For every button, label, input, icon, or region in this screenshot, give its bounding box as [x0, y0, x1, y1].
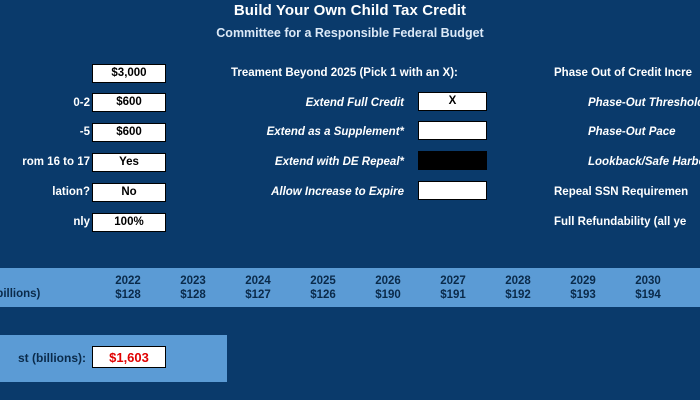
left-row-label-3: rom 16 to 17	[0, 155, 90, 169]
page-subtitle: Committee for a Responsible Federal Budg…	[0, 26, 700, 40]
table-col-header: 2025	[297, 275, 349, 287]
left-row-label-2: -5	[0, 125, 90, 139]
table-cell: $193	[557, 289, 609, 301]
left-row-label-5: nly	[0, 215, 90, 229]
table-col-header: 2024	[232, 275, 284, 287]
table-row-label: ear (billions)	[0, 288, 40, 300]
input-extend-with-de-repeal[interactable]	[418, 151, 487, 170]
table-cell: $126	[297, 289, 349, 301]
spreadsheet-canvas: Build Your Own Child Tax Credit Committe…	[0, 0, 700, 400]
input-extend-full-credit[interactable]: X	[418, 92, 487, 111]
right-panel-heading: Phase Out of Credit Incre	[554, 67, 692, 79]
table-col-header: 2027	[427, 275, 479, 287]
label-extend-full-credit: Extend Full Credit	[218, 96, 404, 110]
label-allow-increase-to-expire: Allow Increase to Expire	[218, 185, 404, 199]
input-extend-as-supplement[interactable]	[418, 121, 487, 140]
label-repeal-ssn-requirement: Repeal SSN Requiremen	[554, 185, 688, 199]
table-col-header: 2030	[622, 275, 674, 287]
label-full-refundability: Full Refundability (all ye	[554, 215, 686, 229]
left-row-label-4: lation?	[0, 185, 90, 199]
label-phase-out-threshold: Phase-Out Threshold	[588, 96, 700, 110]
total-value: $1,603	[92, 346, 166, 368]
input-extend-age-16-to-17[interactable]: Yes	[92, 153, 166, 172]
table-cell: $194	[622, 289, 674, 301]
table-col-header: 2023	[167, 275, 219, 287]
input-credit-amount[interactable]: $3,000	[92, 64, 166, 83]
label-phase-out-pace: Phase-Out Pace	[588, 125, 676, 139]
label-extend-as-supplement: Extend as a Supplement*	[218, 125, 404, 139]
table-cell: $127	[232, 289, 284, 301]
table-col-header: 2028	[492, 275, 544, 287]
left-row-label-1: 0-2	[0, 96, 90, 110]
table-cell: $190	[362, 289, 414, 301]
label-extend-with-de-repeal: Extend with DE Repeal*	[218, 155, 404, 169]
label-lookback-safe-harbor: Lookback/Safe Harbor	[588, 155, 700, 169]
table-cell: $128	[102, 289, 154, 301]
input-percent-only[interactable]: 100%	[92, 213, 166, 232]
input-age-3-5-bonus[interactable]: $600	[92, 123, 166, 142]
input-index-to-inflation[interactable]: No	[92, 183, 166, 202]
table-cell: $128	[167, 289, 219, 301]
table-cell: $	[687, 289, 700, 301]
page-title: Build Your Own Child Tax Credit	[0, 2, 700, 19]
input-age-0-2-bonus[interactable]: $600	[92, 93, 166, 112]
input-allow-increase-to-expire[interactable]	[418, 181, 487, 200]
table-col-header: 2022	[102, 275, 154, 287]
total-label: st (billions):	[0, 351, 86, 365]
table-cell: $192	[492, 289, 544, 301]
table-col-header: 2	[687, 275, 700, 287]
table-band	[0, 268, 700, 307]
table-col-header: 2026	[362, 275, 414, 287]
middle-panel-heading: Treament Beyond 2025 (Pick 1 with an X):	[231, 67, 458, 79]
table-cell: $191	[427, 289, 479, 301]
table-col-header: 2029	[557, 275, 609, 287]
